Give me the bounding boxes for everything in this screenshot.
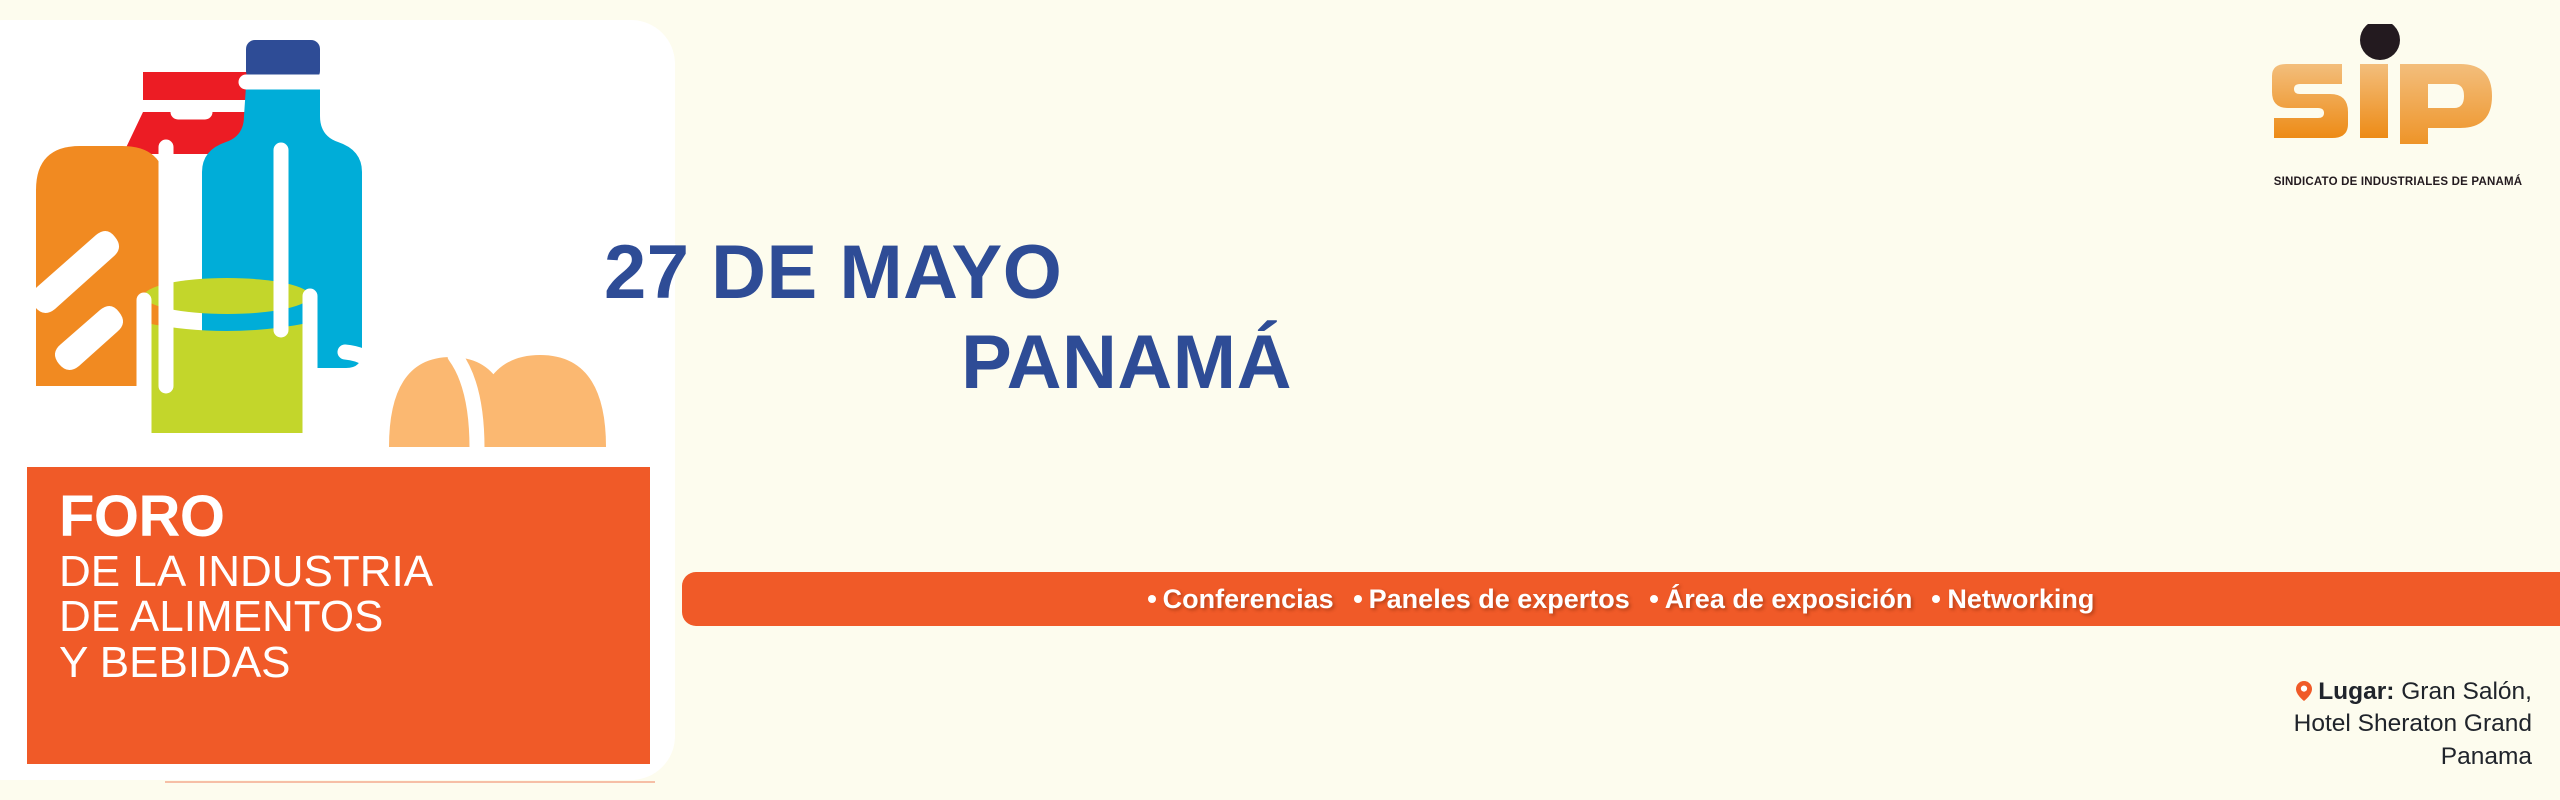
venue-line-3: Panama xyxy=(2441,743,2532,770)
feature-item-label: Paneles de expertos xyxy=(1369,584,1630,615)
event-date: 27 DE MAYO xyxy=(600,228,1340,318)
feature-item-label: Conferencias xyxy=(1163,584,1334,615)
foro-title: FORO xyxy=(59,489,650,545)
foro-subtitle-line-2: DE ALIMENTOS xyxy=(59,594,650,640)
card-divider-rule xyxy=(165,781,655,783)
sip-logo-caption: SINDICATO DE INDUSTRIALES DE PANAMÁ xyxy=(2264,176,2532,188)
venue-line-1: Gran Salón, xyxy=(2394,678,2532,705)
event-city: PANAMÁ xyxy=(600,318,1340,408)
foro-subtitle: DE LA INDUSTRIA DE ALIMENTOS Y BEBIDAS xyxy=(59,549,650,686)
sip-logo xyxy=(2264,24,2532,144)
foro-subtitle-line-1: DE LA INDUSTRIA xyxy=(59,549,650,595)
bullet-icon xyxy=(1148,595,1156,603)
map-pin-icon xyxy=(2293,679,2315,701)
bullet-icon xyxy=(1354,595,1362,603)
feature-item-label: Networking xyxy=(1947,584,2094,615)
venue-line-2: Hotel Sheraton Grand xyxy=(2294,710,2532,737)
grocery-illustration xyxy=(0,0,680,470)
logo-dot-icon xyxy=(2360,24,2400,60)
event-headline: 27 DE MAYO PANAMÁ xyxy=(600,228,1340,407)
venue-label: Lugar: xyxy=(2318,678,2394,705)
foro-title-block: FORO DE LA INDUSTRIA DE ALIMENTOS Y BEBI… xyxy=(27,467,650,764)
bullet-icon xyxy=(1650,595,1658,603)
foro-subtitle-line-3: Y BEBIDAS xyxy=(59,640,650,686)
venue-info: Lugar: Gran Salón, Hotel Sheraton Grand … xyxy=(2112,676,2532,773)
feature-item-paneles: Paneles de expertos xyxy=(1354,584,1630,615)
feature-item-conferencias: Conferencias xyxy=(1148,584,1334,615)
feature-item-area-exposicion: Área de exposición xyxy=(1650,584,1913,615)
peach-eggs-icon xyxy=(389,355,606,447)
bullet-icon xyxy=(1932,595,1940,603)
feature-item-label: Área de exposición xyxy=(1665,584,1913,615)
feature-bar: Conferencias Paneles de expertos Área de… xyxy=(682,572,2560,626)
feature-item-networking: Networking xyxy=(1932,584,2094,615)
